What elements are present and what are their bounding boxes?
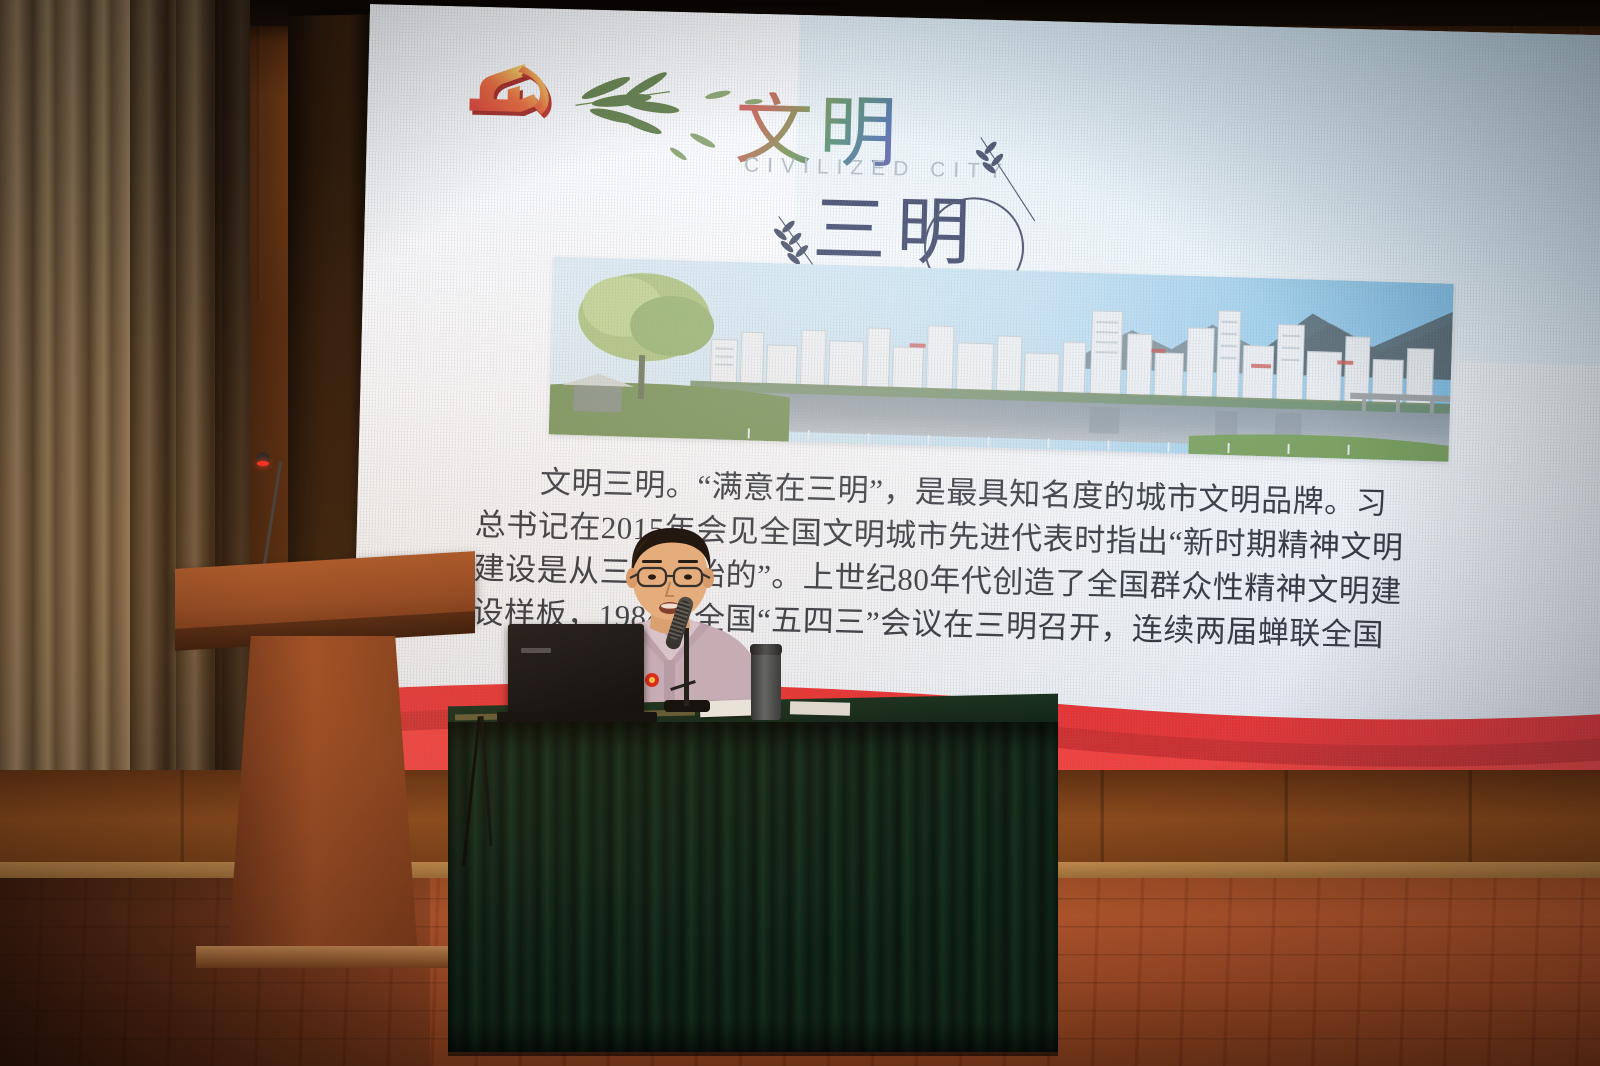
conference-hall-photo: 文明 CIVILIZED CITY 三明: [0, 0, 1600, 1066]
desk-mic-stem: [684, 628, 689, 706]
cpc-emblem-icon: [459, 54, 571, 139]
olive-sprig-icon-right: [965, 127, 1048, 229]
table-skirt: [448, 722, 1058, 1052]
thermos-flask: [751, 648, 781, 720]
papers-stack-secondary: [790, 701, 850, 716]
thermos-cap: [750, 644, 782, 655]
party-pin: [645, 673, 659, 687]
laptop-lid: [508, 624, 644, 716]
podium-column: [228, 636, 418, 956]
table-skirt-hem: [448, 1020, 1058, 1056]
podium-base: [196, 946, 456, 968]
slide-city-photo: [549, 256, 1454, 461]
podium-mic-led: [257, 461, 269, 466]
laptop-brand-logo: [521, 648, 551, 653]
laptop-base: [497, 712, 657, 722]
